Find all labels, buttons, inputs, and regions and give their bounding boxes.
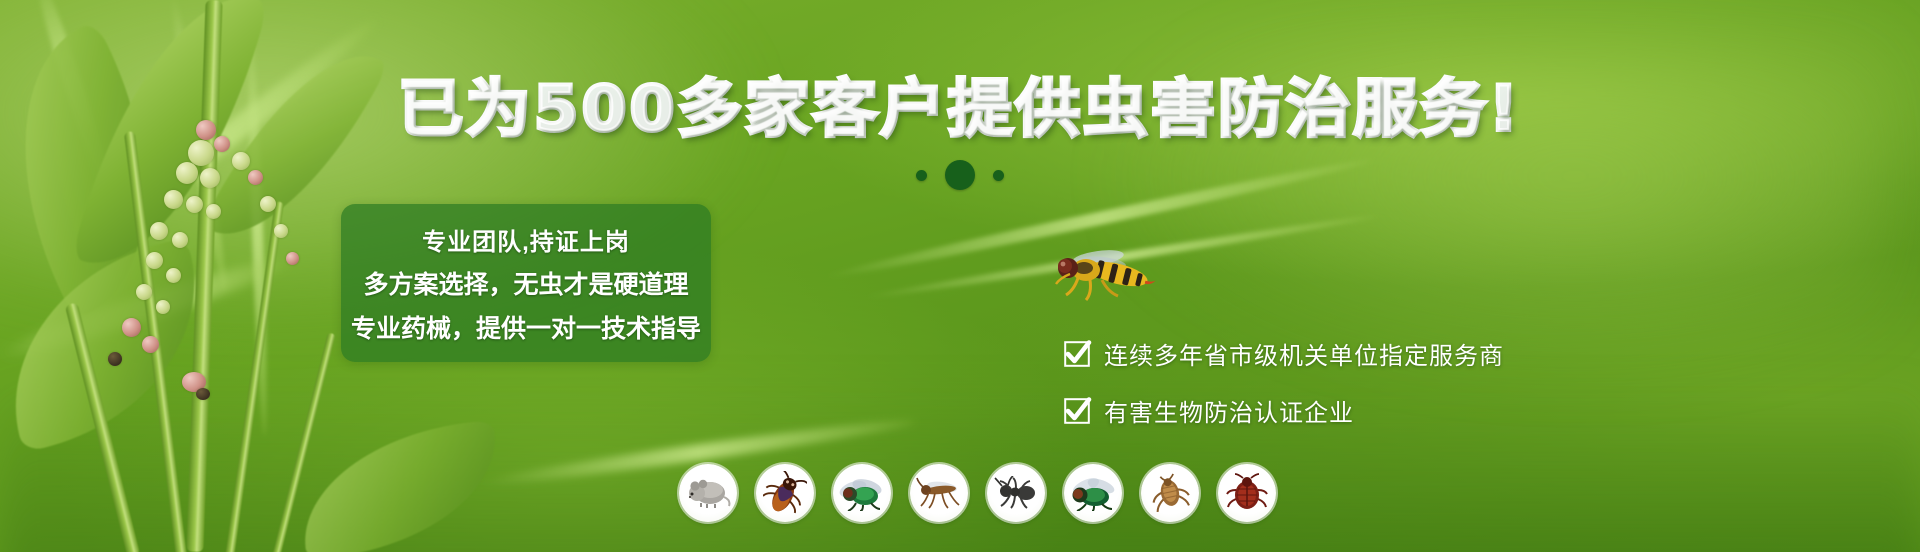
- bedbug-icon: [1218, 464, 1276, 522]
- list-item-label: 有害生物防治认证企业: [1104, 393, 1354, 428]
- list-item: 连续多年省市级机关单位指定服务商: [1064, 336, 1504, 371]
- dot-big-center: [945, 160, 975, 190]
- flea-icon: [1141, 464, 1199, 522]
- ant-icon: [987, 464, 1045, 522]
- mosquito-icon: [910, 464, 968, 522]
- feature-panel: 专业团队,持证上岗 多方案选择，无虫才是硬道理 专业药械，提供一对一技术指导: [341, 204, 711, 362]
- list-item-label: 连续多年省市级机关单位指定服务商: [1104, 336, 1504, 371]
- pest-icon-row: [679, 464, 1276, 522]
- pest-control-banner: 已为500多家客户提供虫害防治服务! 专业团队,持证上岗 多方案选择，无虫才是硬…: [0, 0, 1920, 552]
- greenbottle-fly-icon: [1064, 464, 1122, 522]
- cockroach-icon: [756, 464, 814, 522]
- decorative-dots: [0, 160, 1920, 190]
- background-highlight-right: [1114, 44, 1882, 375]
- list-item: 有害生物防治认证企业: [1064, 393, 1504, 428]
- hoverfly-icon: [1040, 244, 1160, 306]
- blowfly-icon: [833, 464, 891, 522]
- feature-panel-line-2: 多方案选择，无虫才是硬道理: [363, 265, 688, 301]
- checkbox-checked-icon: [1064, 341, 1090, 367]
- dot-small-left: [916, 170, 927, 181]
- checkbox-checked-icon: [1064, 398, 1090, 424]
- certification-bullet-list: 连续多年省市级机关单位指定服务商 有害生物防治认证企业: [1064, 336, 1504, 428]
- dot-small-right: [993, 170, 1004, 181]
- rat-icon: [679, 464, 737, 522]
- feature-panel-line-1: 专业团队,持证上岗: [422, 222, 630, 257]
- feature-panel-line-3: 专业药械，提供一对一技术指导: [351, 309, 701, 345]
